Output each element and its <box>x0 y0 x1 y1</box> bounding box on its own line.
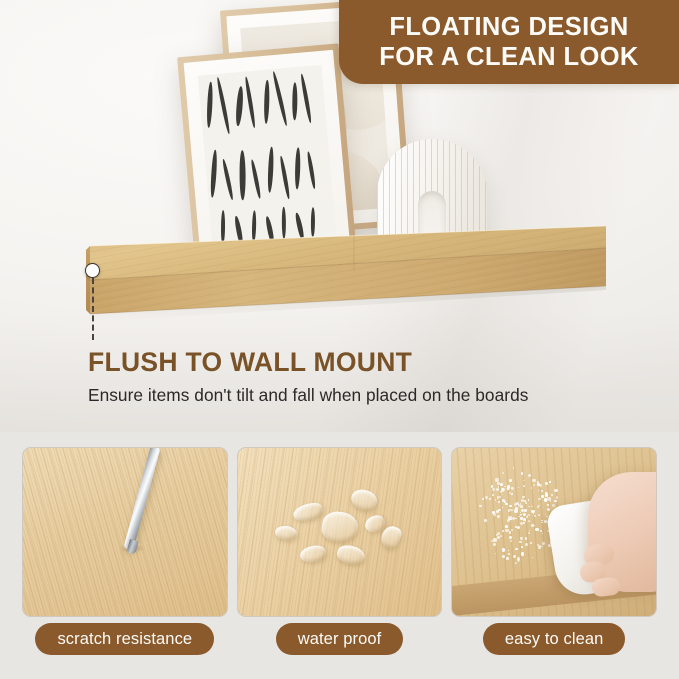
caption-title: FLUSH TO WALL MOUNT <box>88 348 528 377</box>
powder-speck <box>520 505 523 508</box>
powder-speck <box>498 509 501 512</box>
brush-stroke <box>250 159 262 199</box>
powder-speck <box>502 472 504 474</box>
powder-speck <box>549 481 551 483</box>
caption-subtitle: Ensure items don't tilt and fall when pl… <box>88 385 528 407</box>
powder-speck <box>520 515 521 516</box>
brush-stroke <box>245 76 257 128</box>
powder-speck <box>524 509 527 512</box>
frame-artwork-brushstrokes <box>198 65 336 245</box>
product-infographic: FLOATING DESIGN FOR A CLEAN LOOK FLUSH T… <box>0 0 679 679</box>
powder-speck <box>541 495 543 497</box>
powder-speck <box>502 507 503 508</box>
powder-speck <box>506 557 509 560</box>
powder-speck <box>509 536 512 539</box>
powder-speck <box>541 520 542 521</box>
powder-speck <box>541 490 543 492</box>
powder-speck <box>528 514 530 516</box>
powder-speck <box>479 505 481 507</box>
powder-speck <box>517 526 520 529</box>
powder-speck <box>530 542 532 544</box>
powder-speck <box>547 508 550 511</box>
powder-speck <box>502 548 505 551</box>
headline-banner: FLOATING DESIGN FOR A CLEAN LOOK <box>339 0 679 84</box>
powder-speck <box>524 500 526 502</box>
brush-stroke <box>210 149 218 197</box>
powder-speck <box>513 555 516 558</box>
brush-stroke <box>235 86 244 126</box>
powder-speck <box>554 500 556 502</box>
feature-labels: scratch resistance water proof easy to c… <box>22 623 657 655</box>
flush-mount-dashed-line <box>92 278 94 340</box>
shelf-svg <box>86 224 610 342</box>
powder-speck <box>508 550 509 551</box>
wood-shelf <box>86 224 610 342</box>
brush-stroke <box>306 151 316 189</box>
powder-speck <box>493 538 496 541</box>
brush-stroke <box>300 73 313 123</box>
powder-speck <box>511 529 513 531</box>
brush-stroke <box>207 81 214 127</box>
brush-stroke <box>267 146 274 192</box>
brush-stroke <box>221 159 234 201</box>
powder-speck <box>547 504 548 505</box>
feature-panel-scratch-resistance <box>22 447 228 617</box>
label-scratch-resistance: scratch resistance <box>35 623 214 655</box>
powder-speck <box>552 504 555 507</box>
powder-speck <box>508 509 510 511</box>
brush-stroke <box>279 155 291 199</box>
powder-speck <box>497 532 500 535</box>
powder-speck <box>554 489 557 492</box>
powder-speck <box>505 525 508 528</box>
powder-speck <box>531 510 534 513</box>
powder-speck <box>514 509 517 512</box>
banner-line-2: FOR A CLEAN LOOK <box>379 43 639 72</box>
powder-speck <box>538 505 539 506</box>
powder-speck <box>493 513 496 516</box>
flush-mount-marker-dot <box>85 263 100 278</box>
powder-speck <box>484 519 487 522</box>
powder-speck <box>534 525 535 526</box>
pill-wrap-water-proof: water proof <box>237 623 443 655</box>
brush-stroke <box>216 77 231 135</box>
powder-speck <box>497 515 500 518</box>
powder-speck <box>515 507 518 510</box>
powder-speck <box>492 494 494 496</box>
powder-speck <box>540 530 542 532</box>
powder-speck <box>521 546 523 548</box>
powder-speck <box>510 540 512 542</box>
brush-stroke <box>272 71 288 126</box>
powder-speck <box>525 520 526 521</box>
label-water-proof: water proof <box>276 623 404 655</box>
powder-speck <box>518 487 519 488</box>
powder-speck <box>519 541 522 544</box>
powder-speck <box>499 496 500 497</box>
powder-speck <box>545 482 548 485</box>
brush-stroke <box>292 83 298 121</box>
feature-panels <box>22 447 657 617</box>
powder-speck <box>509 492 511 494</box>
powder-speck <box>509 505 512 508</box>
powder-speck <box>515 548 518 551</box>
powder-speck <box>497 482 500 485</box>
powder-speck <box>493 543 496 546</box>
feature-panel-water-proof <box>237 447 443 617</box>
powder-speck <box>504 486 505 487</box>
powder-speck <box>528 506 530 508</box>
powder-speck <box>551 494 553 496</box>
label-easy-to-clean: easy to clean <box>483 623 626 655</box>
powder-speck <box>491 485 493 487</box>
powder-speck <box>531 524 534 527</box>
powder-speck <box>538 546 541 549</box>
powder-speck <box>510 509 512 511</box>
powder-speck <box>495 499 496 500</box>
caption-block: FLUSH TO WALL MOUNT Ensure items don't t… <box>88 348 528 407</box>
powder-speck <box>509 479 512 482</box>
powder-speck <box>532 479 535 482</box>
powder-speck <box>515 518 517 520</box>
feature-panel-easy-to-clean <box>451 447 657 617</box>
powder-speck <box>528 474 531 477</box>
pill-wrap-scratch-resistance: scratch resistance <box>22 623 228 655</box>
brush-stroke <box>295 147 301 189</box>
powder-speck <box>500 483 503 486</box>
powder-speck <box>531 487 532 488</box>
powder-speck <box>509 531 512 534</box>
powder-speck <box>492 488 495 491</box>
banner-line-1: FLOATING DESIGN <box>389 13 628 42</box>
brush-stroke <box>240 150 246 200</box>
powder-speck <box>544 520 547 523</box>
wood-texture <box>23 448 227 616</box>
pill-wrap-easy-to-clean: easy to clean <box>451 623 657 655</box>
brush-stroke <box>264 80 271 124</box>
